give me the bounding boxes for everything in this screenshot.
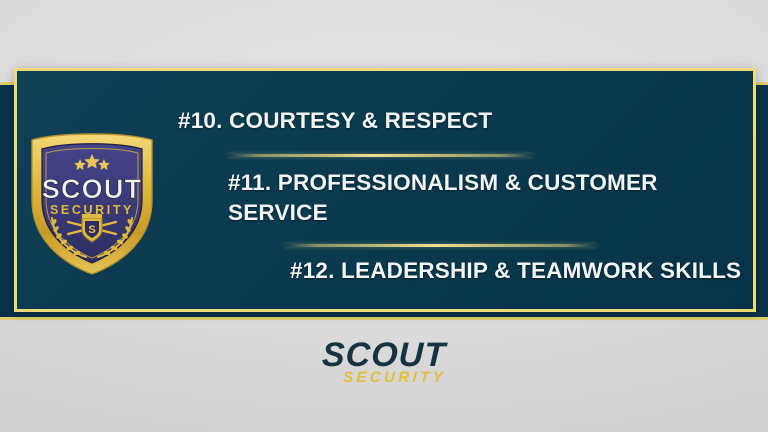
list-item-11: #11. PROFESSIONALISM & CUSTOMER SERVICE (228, 168, 728, 228)
slide-canvas: SCOUT SECURITY (0, 0, 768, 432)
list-item-10: #10. COURTESY & RESPECT (178, 106, 738, 136)
agenda-list: #10. COURTESY & RESPECT #11. PROFESSIONA… (170, 96, 748, 296)
wordmark-security: SECURITY (322, 370, 447, 386)
scout-security-shield-icon: SCOUT SECURITY (24, 126, 160, 278)
list-item-12: #12. LEADERSHIP & TEAMWORK SKILLS (290, 256, 750, 286)
svg-text:SCOUT: SCOUT (42, 174, 143, 204)
svg-text:S: S (88, 224, 95, 236)
wordmark-scout: SCOUT (321, 338, 446, 372)
footer-wordmark: SCOUT SECURITY (0, 338, 768, 387)
list-divider-2 (285, 244, 597, 247)
list-divider-1 (228, 154, 533, 157)
